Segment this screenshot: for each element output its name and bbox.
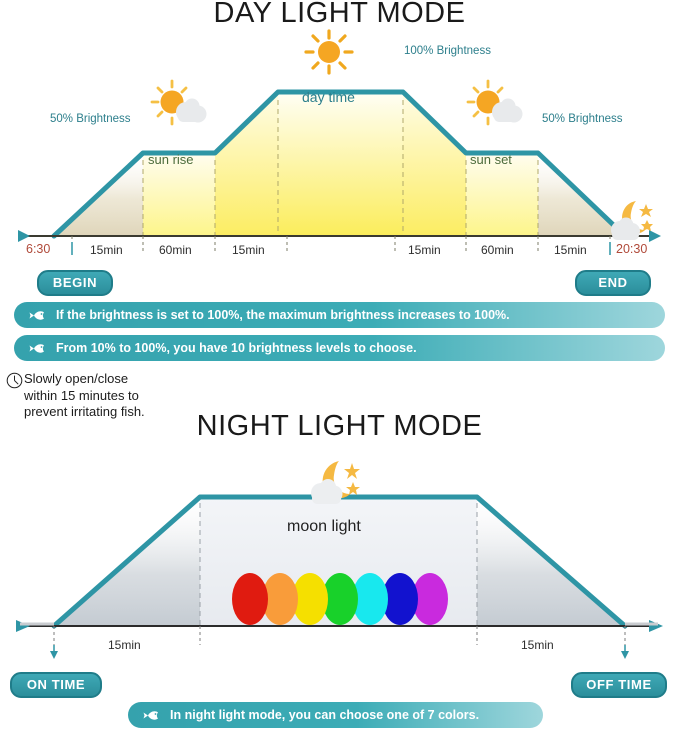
banner-text: From 10% to 100%, you have 10 brightness… — [56, 341, 417, 355]
sun-behind-cloud-icon — [148, 78, 210, 130]
on-time-pill[interactable]: ON TIME — [10, 672, 102, 698]
day-segment-6: 15min — [554, 243, 587, 257]
banner-brightness-max: If the brightness is set to 100%, the ma… — [14, 302, 665, 328]
label-brightness-peak: 100% Brightness — [404, 45, 491, 57]
banner-text: If the brightness is set to 100%, the ma… — [56, 308, 510, 322]
begin-pill[interactable]: BEGIN — [37, 270, 113, 296]
banner-text: In night light mode, you can choose one … — [170, 708, 479, 722]
moon-stars-cloud-icon — [307, 459, 367, 507]
night-segment-2: 15min — [521, 638, 554, 652]
infographic-root: DAY LIGHT MODE — [0, 0, 679, 731]
label-day-time: day time — [302, 89, 355, 105]
day-segment-5: 60min — [481, 243, 514, 257]
banner-night-colors: In night light mode, you can choose one … — [128, 702, 543, 728]
color-swatch-row — [232, 573, 450, 625]
label-sun-rise: sun rise — [148, 152, 194, 167]
label-begin-time: 6:30 — [26, 242, 50, 256]
clock-icon — [6, 372, 23, 389]
sun-icon — [303, 28, 355, 76]
moon-stars-cloud-icon — [608, 198, 656, 242]
night-light-mode-title: NIGHT LIGHT MODE — [0, 410, 679, 443]
night-segment-1: 15min — [108, 638, 141, 652]
end-pill[interactable]: END — [575, 270, 651, 296]
fish-icon — [28, 309, 48, 322]
day-segment-3: 15min — [232, 243, 265, 257]
label-brightness-left: 50% Brightness — [50, 113, 131, 125]
label-brightness-right: 50% Brightness — [542, 113, 623, 125]
color-swatch[interactable] — [232, 573, 268, 625]
day-segment-1: 15min — [90, 243, 123, 257]
day-segment-4: 15min — [408, 243, 441, 257]
fish-icon — [28, 342, 48, 355]
day-segment-2: 60min — [159, 243, 192, 257]
sun-behind-cloud-icon — [464, 78, 526, 130]
label-end-time: 20:30 — [616, 242, 647, 256]
banner-brightness-levels: From 10% to 100%, you have 10 brightness… — [14, 335, 665, 361]
fish-icon — [142, 709, 162, 722]
off-time-pill[interactable]: OFF TIME — [571, 672, 667, 698]
label-sun-set: sun set — [470, 152, 512, 167]
label-moon-light: moon light — [287, 518, 361, 536]
